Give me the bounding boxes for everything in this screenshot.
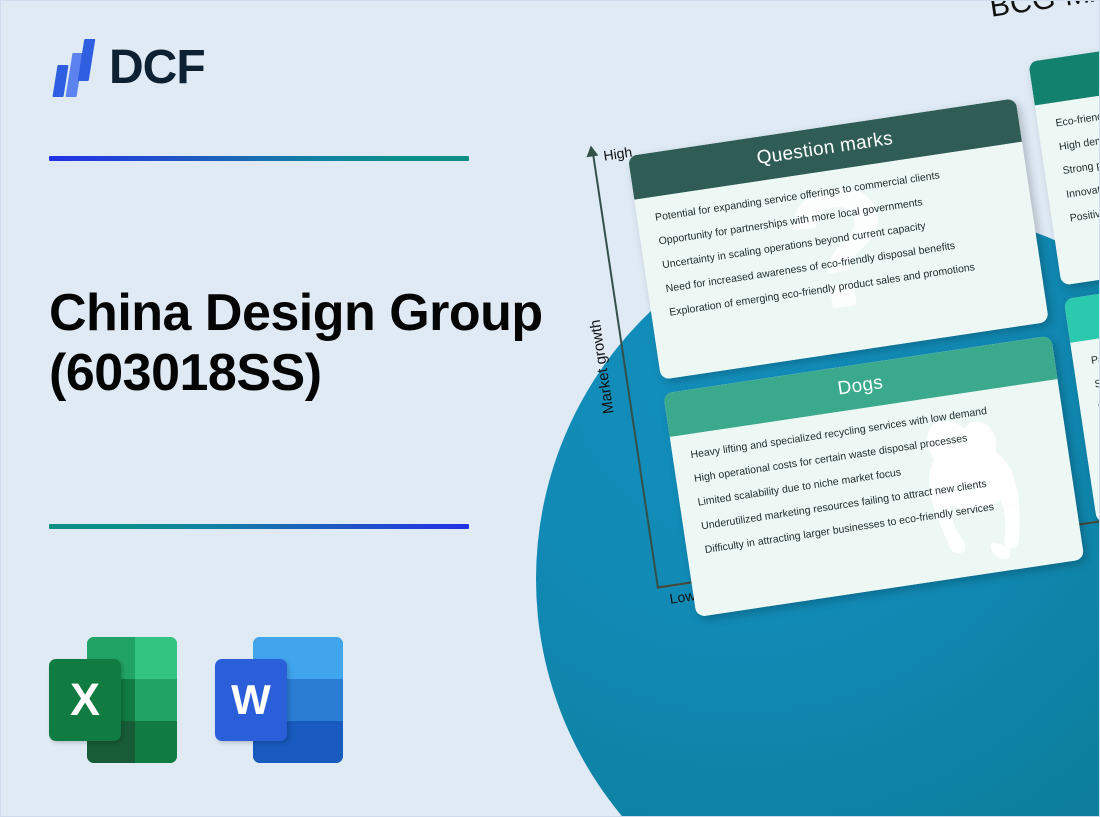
excel-file-icon[interactable]: X bbox=[49, 637, 177, 763]
matrix-plane: BCG MATRIX High Low Market growth Market… bbox=[561, 1, 1100, 615]
divider-top bbox=[49, 156, 469, 161]
page-title: China Design Group (603018SS) bbox=[49, 283, 549, 404]
quadrant-question-marks[interactable]: Question marks ? Potential for expanding… bbox=[628, 98, 1049, 379]
quadrant-stars[interactable]: Stars Eco-friendly junk removal High dem… bbox=[1028, 4, 1100, 285]
brand-name: DCF bbox=[109, 44, 205, 92]
quadrant-title: Stars bbox=[1028, 4, 1100, 105]
matrix-title: BCG MATRIX bbox=[987, 1, 1100, 25]
excel-letter: X bbox=[49, 659, 121, 741]
left-column: DCF China Design Group (603018SS) X W bbox=[1, 1, 541, 817]
slide-canvas: DCF China Design Group (603018SS) X W bbox=[0, 0, 1100, 817]
file-type-icons: X W bbox=[49, 637, 343, 763]
divider-bottom bbox=[49, 524, 469, 529]
word-file-icon[interactable]: W bbox=[215, 637, 343, 763]
dcf-bars-icon bbox=[49, 39, 95, 97]
brand-logo[interactable]: DCF bbox=[49, 39, 205, 97]
word-letter: W bbox=[215, 659, 287, 741]
